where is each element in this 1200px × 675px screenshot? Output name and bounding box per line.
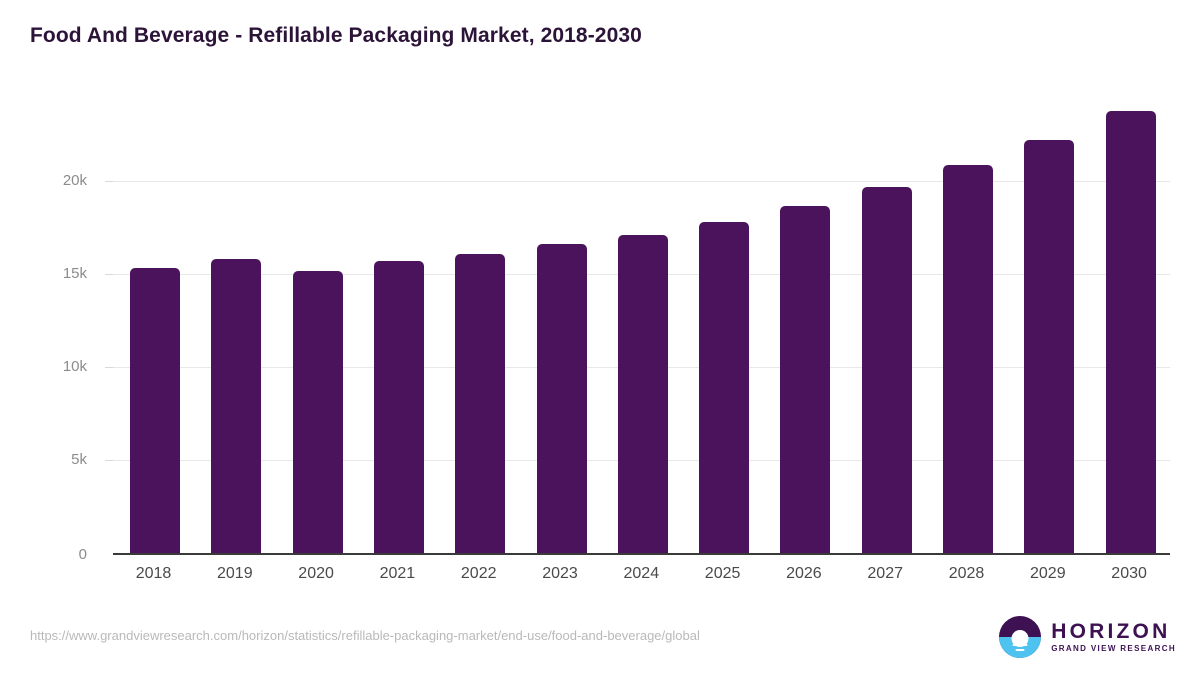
bar-2021[interactable] (374, 261, 424, 553)
bar-2022[interactable] (455, 254, 505, 553)
brand-logo: HORIZON GRAND VIEW RESEARCH (999, 616, 1176, 658)
logo-ray-shape (1016, 649, 1025, 652)
bar-group (113, 95, 194, 553)
y-axis-tick (105, 274, 113, 275)
logo-tagline: GRAND VIEW RESEARCH (1051, 645, 1176, 653)
x-tick-label: 2029 (1007, 565, 1088, 583)
bar-group (682, 95, 763, 553)
x-tick-label: 2021 (357, 565, 438, 583)
x-axis-line (113, 553, 1170, 555)
bar-group (194, 95, 275, 553)
bar-group (438, 95, 519, 553)
x-tick-label: 2030 (1089, 565, 1170, 583)
x-tick-label: 2028 (926, 565, 1007, 583)
bar-2028[interactable] (943, 165, 993, 553)
logo-ray-shape (1013, 644, 1028, 647)
x-tick-label: 2022 (438, 565, 519, 583)
page-title: Food And Beverage - Refillable Packaging… (30, 24, 642, 48)
x-tick-label: 2020 (276, 565, 357, 583)
bar-group (357, 95, 438, 553)
bar-2018[interactable] (130, 268, 180, 553)
bar-2027[interactable] (862, 187, 912, 553)
x-tick-label: 2019 (194, 565, 275, 583)
x-tick-label: 2023 (520, 565, 601, 583)
bar-2030[interactable] (1106, 111, 1156, 553)
bar-group (1089, 95, 1170, 553)
bar-2019[interactable] (211, 259, 261, 553)
chart-page: Food And Beverage - Refillable Packaging… (0, 0, 1200, 675)
bar-group (601, 95, 682, 553)
y-axis-tick (105, 181, 113, 182)
x-tick-label: 2025 (682, 565, 763, 583)
bar-group (520, 95, 601, 553)
y-axis-tick (105, 460, 113, 461)
y-tick-label: 5k (0, 451, 100, 468)
source-url[interactable]: https://www.grandviewresearch.com/horizo… (30, 628, 700, 643)
bar-2025[interactable] (699, 222, 749, 553)
bar-2020[interactable] (293, 271, 343, 553)
bar-2023[interactable] (537, 244, 587, 553)
x-tick-label: 2026 (763, 565, 844, 583)
x-tick-label: 2024 (601, 565, 682, 583)
x-axis: 2018201920202021202220232024202520262027… (113, 565, 1170, 593)
bar-2026[interactable] (780, 206, 830, 553)
bar-group (276, 95, 357, 553)
y-axis-tick (105, 367, 113, 368)
x-tick-label: 2027 (845, 565, 926, 583)
bar-group (845, 95, 926, 553)
horizon-sunset-icon (999, 616, 1041, 658)
logo-text: HORIZON GRAND VIEW RESEARCH (1051, 621, 1176, 653)
logo-name: HORIZON (1051, 621, 1176, 642)
plot-area (113, 95, 1170, 553)
bar-2029[interactable] (1024, 140, 1074, 553)
bar-group (1007, 95, 1088, 553)
bar-group (763, 95, 844, 553)
x-tick-label: 2018 (113, 565, 194, 583)
y-tick-label: 10k (0, 358, 100, 375)
y-tick-label: 20k (0, 172, 100, 189)
bar-2024[interactable] (618, 235, 668, 553)
bar-group (926, 95, 1007, 553)
y-tick-label: 0 (0, 546, 100, 563)
y-tick-label: 15k (0, 265, 100, 282)
